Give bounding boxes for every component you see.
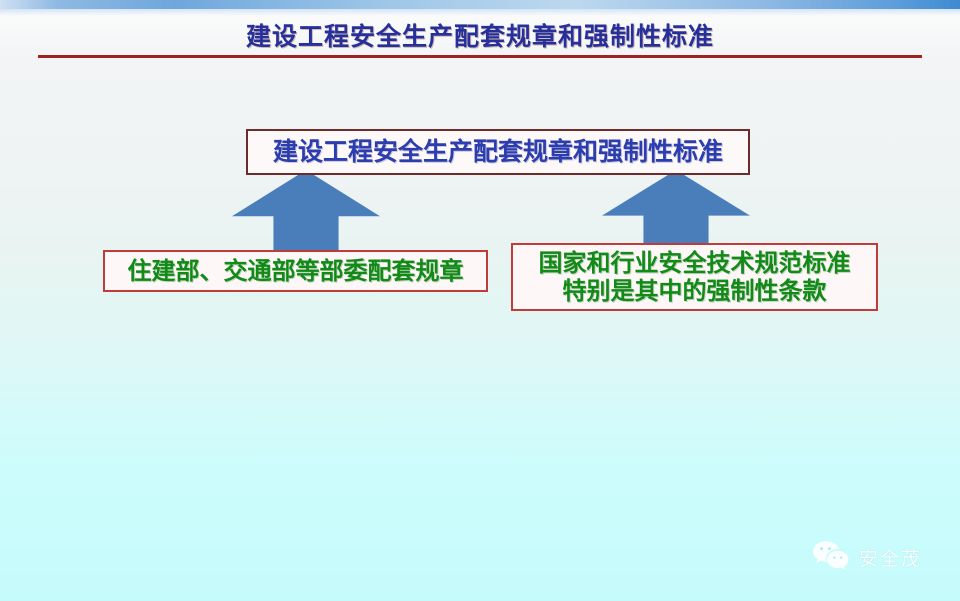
top-decorative-band <box>0 0 960 9</box>
watermark-label: 安全茂 <box>859 544 922 571</box>
slide-canvas: 建设工程安全生产配套规章和强制性标准 建设工程安全生产配套规章和强制性标准 住建… <box>0 0 960 601</box>
diagram-node-right-label-line1: 国家和行业安全技术规范标准 <box>539 249 851 277</box>
diagram-node-right: 国家和行业安全技术规范标准 特别是其中的强制性条款 <box>511 243 878 311</box>
diagram-node-left-label: 住建部、交通部等部委配套规章 <box>128 257 464 285</box>
diagram-node-right-label-line2: 特别是其中的强制性条款 <box>563 277 827 305</box>
diagram-node-top-label: 建设工程安全生产配套规章和强制性标准 <box>273 137 723 167</box>
top-band-fade <box>0 9 960 16</box>
diagram-node-left: 住建部、交通部等部委配套规章 <box>103 250 488 292</box>
watermark: 安全茂 <box>812 540 922 574</box>
diagram-node-top: 建设工程安全生产配套规章和强制性标准 <box>246 129 750 175</box>
page-title: 建设工程安全生产配套规章和强制性标准 <box>0 17 960 53</box>
title-underline-rule <box>38 55 922 58</box>
wechat-icon <box>812 540 850 574</box>
